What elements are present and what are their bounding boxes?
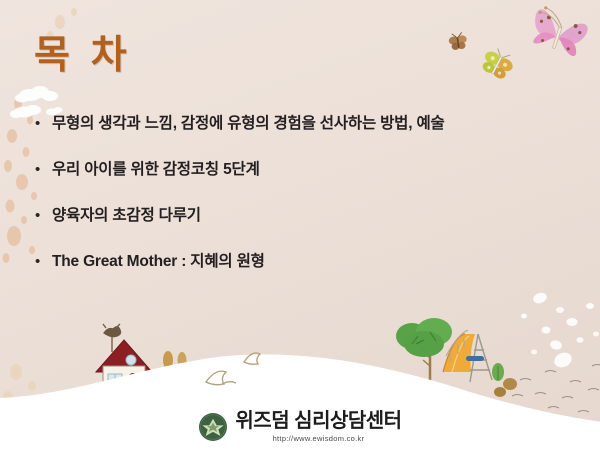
list-item[interactable]: • 양육자의 초감정 다루기 (30, 205, 575, 251)
pink-butterfly-icon (527, 4, 590, 58)
organization-name: 위즈덤 심리상담센터 (235, 410, 401, 432)
grass-tick-icon (512, 365, 600, 413)
house-round-window (126, 355, 136, 365)
list-item-label: 무형의 생각과 느낌, 감정에 유형의 경험을 선사하는 방법, 예술 (52, 113, 445, 135)
bullet-marker-icon: • (30, 113, 52, 135)
list-item[interactable]: • 우리 아이를 위한 감정코칭 5단계 (30, 159, 575, 205)
list-item-label: The Great Mother : 지혜의 원형 (52, 251, 265, 273)
list-item[interactable]: • The Great Mother : 지혜의 원형 (30, 251, 575, 297)
bush-icon (492, 363, 517, 397)
footer-logo[interactable]: 위즈덤 심리상담센터 http://www.ewisdom.co.kr (0, 410, 600, 444)
six-pointed-star-icon (198, 412, 228, 442)
slide-blue-bar (466, 356, 484, 361)
bullet-marker-icon: • (30, 251, 52, 273)
bullet-marker-icon: • (30, 205, 52, 227)
bullet-marker-icon: • (30, 159, 52, 181)
list-item-label: 양육자의 초감정 다루기 (52, 205, 201, 227)
agenda-list: • 무형의 생각과 느낌, 감정에 유형의 경험을 선사하는 방법, 예술 • … (30, 113, 575, 297)
yellow-green-butterfly-icon (479, 45, 518, 82)
list-item[interactable]: • 무형의 생각과 느낌, 감정에 유형의 경험을 선사하는 방법, 예술 (30, 113, 575, 159)
slide-title: 목 차 (34, 24, 132, 80)
logo-text-block: 위즈덤 심리상담센터 http://www.ewisdom.co.kr (235, 410, 401, 444)
website-url: http://www.ewisdom.co.kr (273, 433, 365, 444)
list-item-label: 우리 아이를 위한 감정코칭 5단계 (52, 159, 260, 181)
white-speckle-icon (521, 291, 599, 370)
presentation-slide: 목 차 • 무형의 생각과 느낌, 감정에 유형의 경험을 선사하는 방법, 예… (0, 0, 600, 450)
small-brown-butterfly-icon (448, 32, 468, 51)
